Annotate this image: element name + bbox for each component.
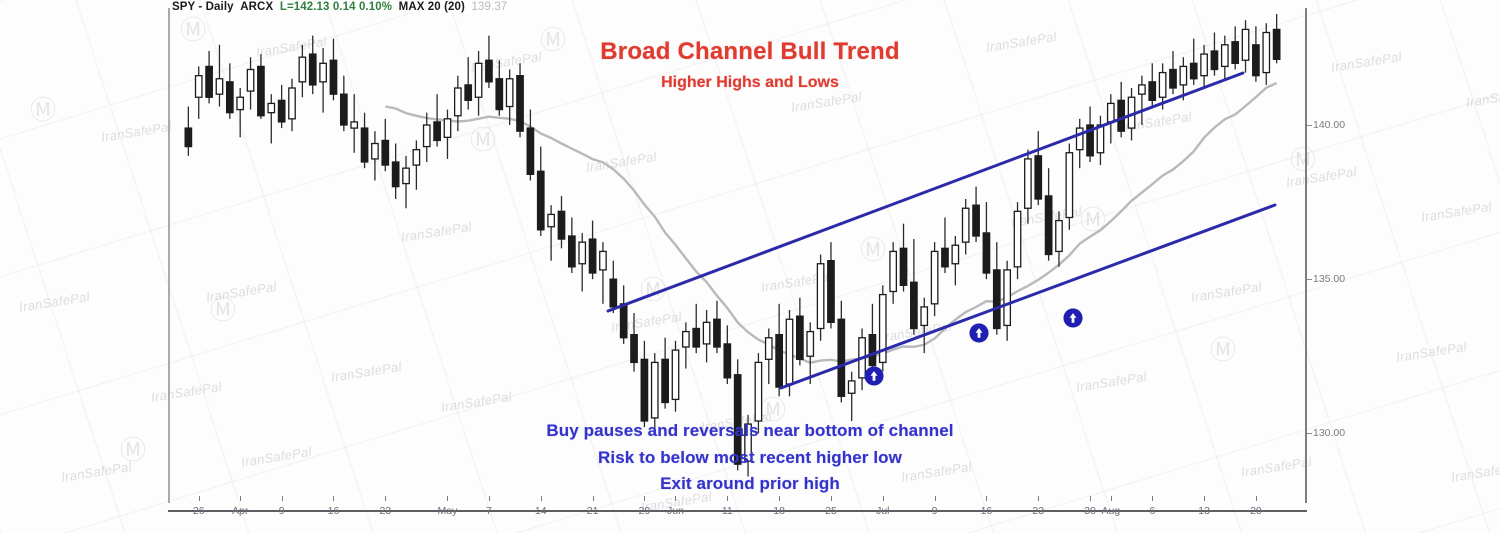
candlestick xyxy=(848,372,854,421)
date-axis-tick xyxy=(333,496,334,501)
date-axis-tick xyxy=(1038,496,1039,501)
candlestick xyxy=(683,322,689,368)
candlestick xyxy=(1056,211,1062,267)
date-axis-label: Aug xyxy=(1101,505,1120,517)
watermark-text: IranSafePal xyxy=(1395,339,1468,365)
date-axis-tick xyxy=(282,496,283,501)
candlestick xyxy=(776,304,782,397)
channel-lower-line xyxy=(781,205,1275,388)
candlestick xyxy=(444,110,450,159)
price-axis-label: 135.00 xyxy=(1313,273,1345,285)
price-axis-label: 140.00 xyxy=(1313,119,1345,131)
date-axis-label: 23 xyxy=(1032,505,1044,517)
candlestick xyxy=(1108,94,1114,143)
date-axis-tick xyxy=(727,496,728,501)
candlestick xyxy=(538,147,544,236)
date-axis-tick xyxy=(935,496,936,501)
date-axis-label: 9 xyxy=(279,505,285,517)
date-axis-tick xyxy=(1152,496,1153,501)
date-axis-tick xyxy=(1090,496,1091,501)
date-axis-label: 11 xyxy=(722,505,733,517)
candlestick xyxy=(724,325,730,384)
date-axis-label: 25 xyxy=(825,505,837,517)
date-axis-tick xyxy=(986,496,987,501)
date-axis-tick xyxy=(1204,496,1205,501)
date-axis-label: 30 xyxy=(1084,505,1096,517)
date-axis-label: 9 xyxy=(932,505,938,517)
date-axis-tick xyxy=(541,496,542,501)
candlestick xyxy=(766,329,772,385)
candlestick xyxy=(828,242,834,328)
price-axis-tick xyxy=(1307,279,1312,280)
candlestick xyxy=(185,107,191,156)
candlestick xyxy=(703,310,709,362)
candlestick xyxy=(620,285,626,344)
candlestick xyxy=(351,94,357,153)
date-axis-label: Apr xyxy=(232,505,248,517)
date-axis-tick xyxy=(240,496,241,501)
candlestick xyxy=(911,239,917,335)
candlestick xyxy=(237,88,243,137)
date-axis-tick xyxy=(644,496,645,501)
candlestick xyxy=(1014,202,1020,279)
watermark-text: IranSafePal xyxy=(1420,199,1493,225)
candlestick xyxy=(600,242,606,304)
annotation-title: Broad Channel Bull Trend xyxy=(0,38,1500,66)
date-axis-tick xyxy=(199,496,200,501)
date-axis-label: 14 xyxy=(535,505,547,517)
candlestick xyxy=(1025,150,1031,224)
candlestick xyxy=(268,94,274,143)
buy-arrow-up-icon[interactable] xyxy=(865,367,884,386)
date-axis-tick xyxy=(1256,496,1257,501)
date-axis-label: Jun xyxy=(667,505,684,517)
date-axis-tick xyxy=(447,496,448,501)
date-axis-tick xyxy=(779,496,780,501)
candlestick xyxy=(952,236,958,285)
candlestick xyxy=(693,304,699,353)
candlestick xyxy=(983,202,989,279)
candlestick xyxy=(424,113,430,162)
candlestick xyxy=(869,304,875,372)
date-axis-tick xyxy=(593,496,594,501)
candlestick xyxy=(880,285,886,371)
candlestick xyxy=(548,205,554,261)
annotation-note-3: Exit around prior high xyxy=(0,474,1500,494)
date-axis-label: 21 xyxy=(587,505,599,517)
date-axis-label: 18 xyxy=(773,505,785,517)
date-axis-tick xyxy=(675,496,676,501)
channel-upper-line xyxy=(608,73,1243,311)
candlestick xyxy=(1097,116,1103,165)
candlestick xyxy=(527,110,533,181)
candlestick xyxy=(413,140,419,189)
candlestick xyxy=(931,242,937,316)
candlestick xyxy=(942,218,948,274)
annotation-note-1: Buy pauses and reversals near bottom of … xyxy=(0,421,1500,441)
candlestick xyxy=(994,242,1000,334)
candlestick xyxy=(610,261,616,313)
candlestick xyxy=(1004,261,1010,341)
candlestick xyxy=(1087,107,1093,163)
candlestick xyxy=(890,242,896,304)
date-axis-label: 23 xyxy=(379,505,391,517)
date-axis-label: 20 xyxy=(1250,505,1262,517)
candlestick xyxy=(641,341,647,427)
price-axis-tick xyxy=(1307,125,1312,126)
date-axis-label: 6 xyxy=(1149,505,1155,517)
candlestick xyxy=(973,187,979,243)
date-axis-tick xyxy=(883,496,884,501)
candlestick xyxy=(817,255,823,341)
date-axis-tick xyxy=(489,496,490,501)
candlestick xyxy=(1045,168,1051,261)
candlestick xyxy=(1066,144,1072,230)
date-axis-tick xyxy=(1111,496,1112,501)
candlestick xyxy=(672,341,678,412)
candlestick xyxy=(1076,119,1082,168)
date-axis-label: 16 xyxy=(328,505,340,517)
date-axis-label: 26 xyxy=(193,505,205,517)
watermark-text: IranSafePal xyxy=(18,289,91,315)
candlestick xyxy=(382,119,388,171)
candlestick xyxy=(714,301,720,353)
candlestick xyxy=(797,298,803,366)
chart-screenshot: IranSafePalIranSafePalIranSafePalIranSaf… xyxy=(0,0,1500,533)
candlestick xyxy=(569,218,575,274)
candlestick xyxy=(392,144,398,200)
candlestick xyxy=(403,156,409,208)
annotation-subtitle: Higher Highs and Lows xyxy=(0,74,1500,92)
date-axis-label: 16 xyxy=(981,505,993,517)
date-axis-label: 7 xyxy=(486,505,492,517)
date-axis-tick xyxy=(831,496,832,501)
date-axis-label: Jul xyxy=(876,505,889,517)
candlestick xyxy=(662,338,668,409)
candlestick xyxy=(631,313,637,372)
candlestick xyxy=(838,301,844,403)
buy-arrow-up-icon[interactable] xyxy=(1064,309,1083,328)
candlestick xyxy=(589,221,595,280)
candlestick xyxy=(361,113,367,169)
annotation-note-2: Risk to below most recent higher low xyxy=(0,448,1500,468)
date-axis-label: 29 xyxy=(639,505,651,517)
date-axis-tick xyxy=(385,496,386,501)
date-axis-label: 13 xyxy=(1198,505,1210,517)
candlestick xyxy=(1035,131,1041,205)
candlestick xyxy=(579,233,585,292)
watermark-text: IranSafePal xyxy=(100,119,173,145)
candlestick xyxy=(962,199,968,255)
date-axis-label: May xyxy=(438,505,458,517)
candlestick xyxy=(900,224,906,292)
watermark-logo-icon: Ⓜ xyxy=(30,90,56,127)
candlestick xyxy=(372,131,378,180)
candlestick xyxy=(558,196,564,248)
buy-arrow-up-icon[interactable] xyxy=(970,324,989,343)
